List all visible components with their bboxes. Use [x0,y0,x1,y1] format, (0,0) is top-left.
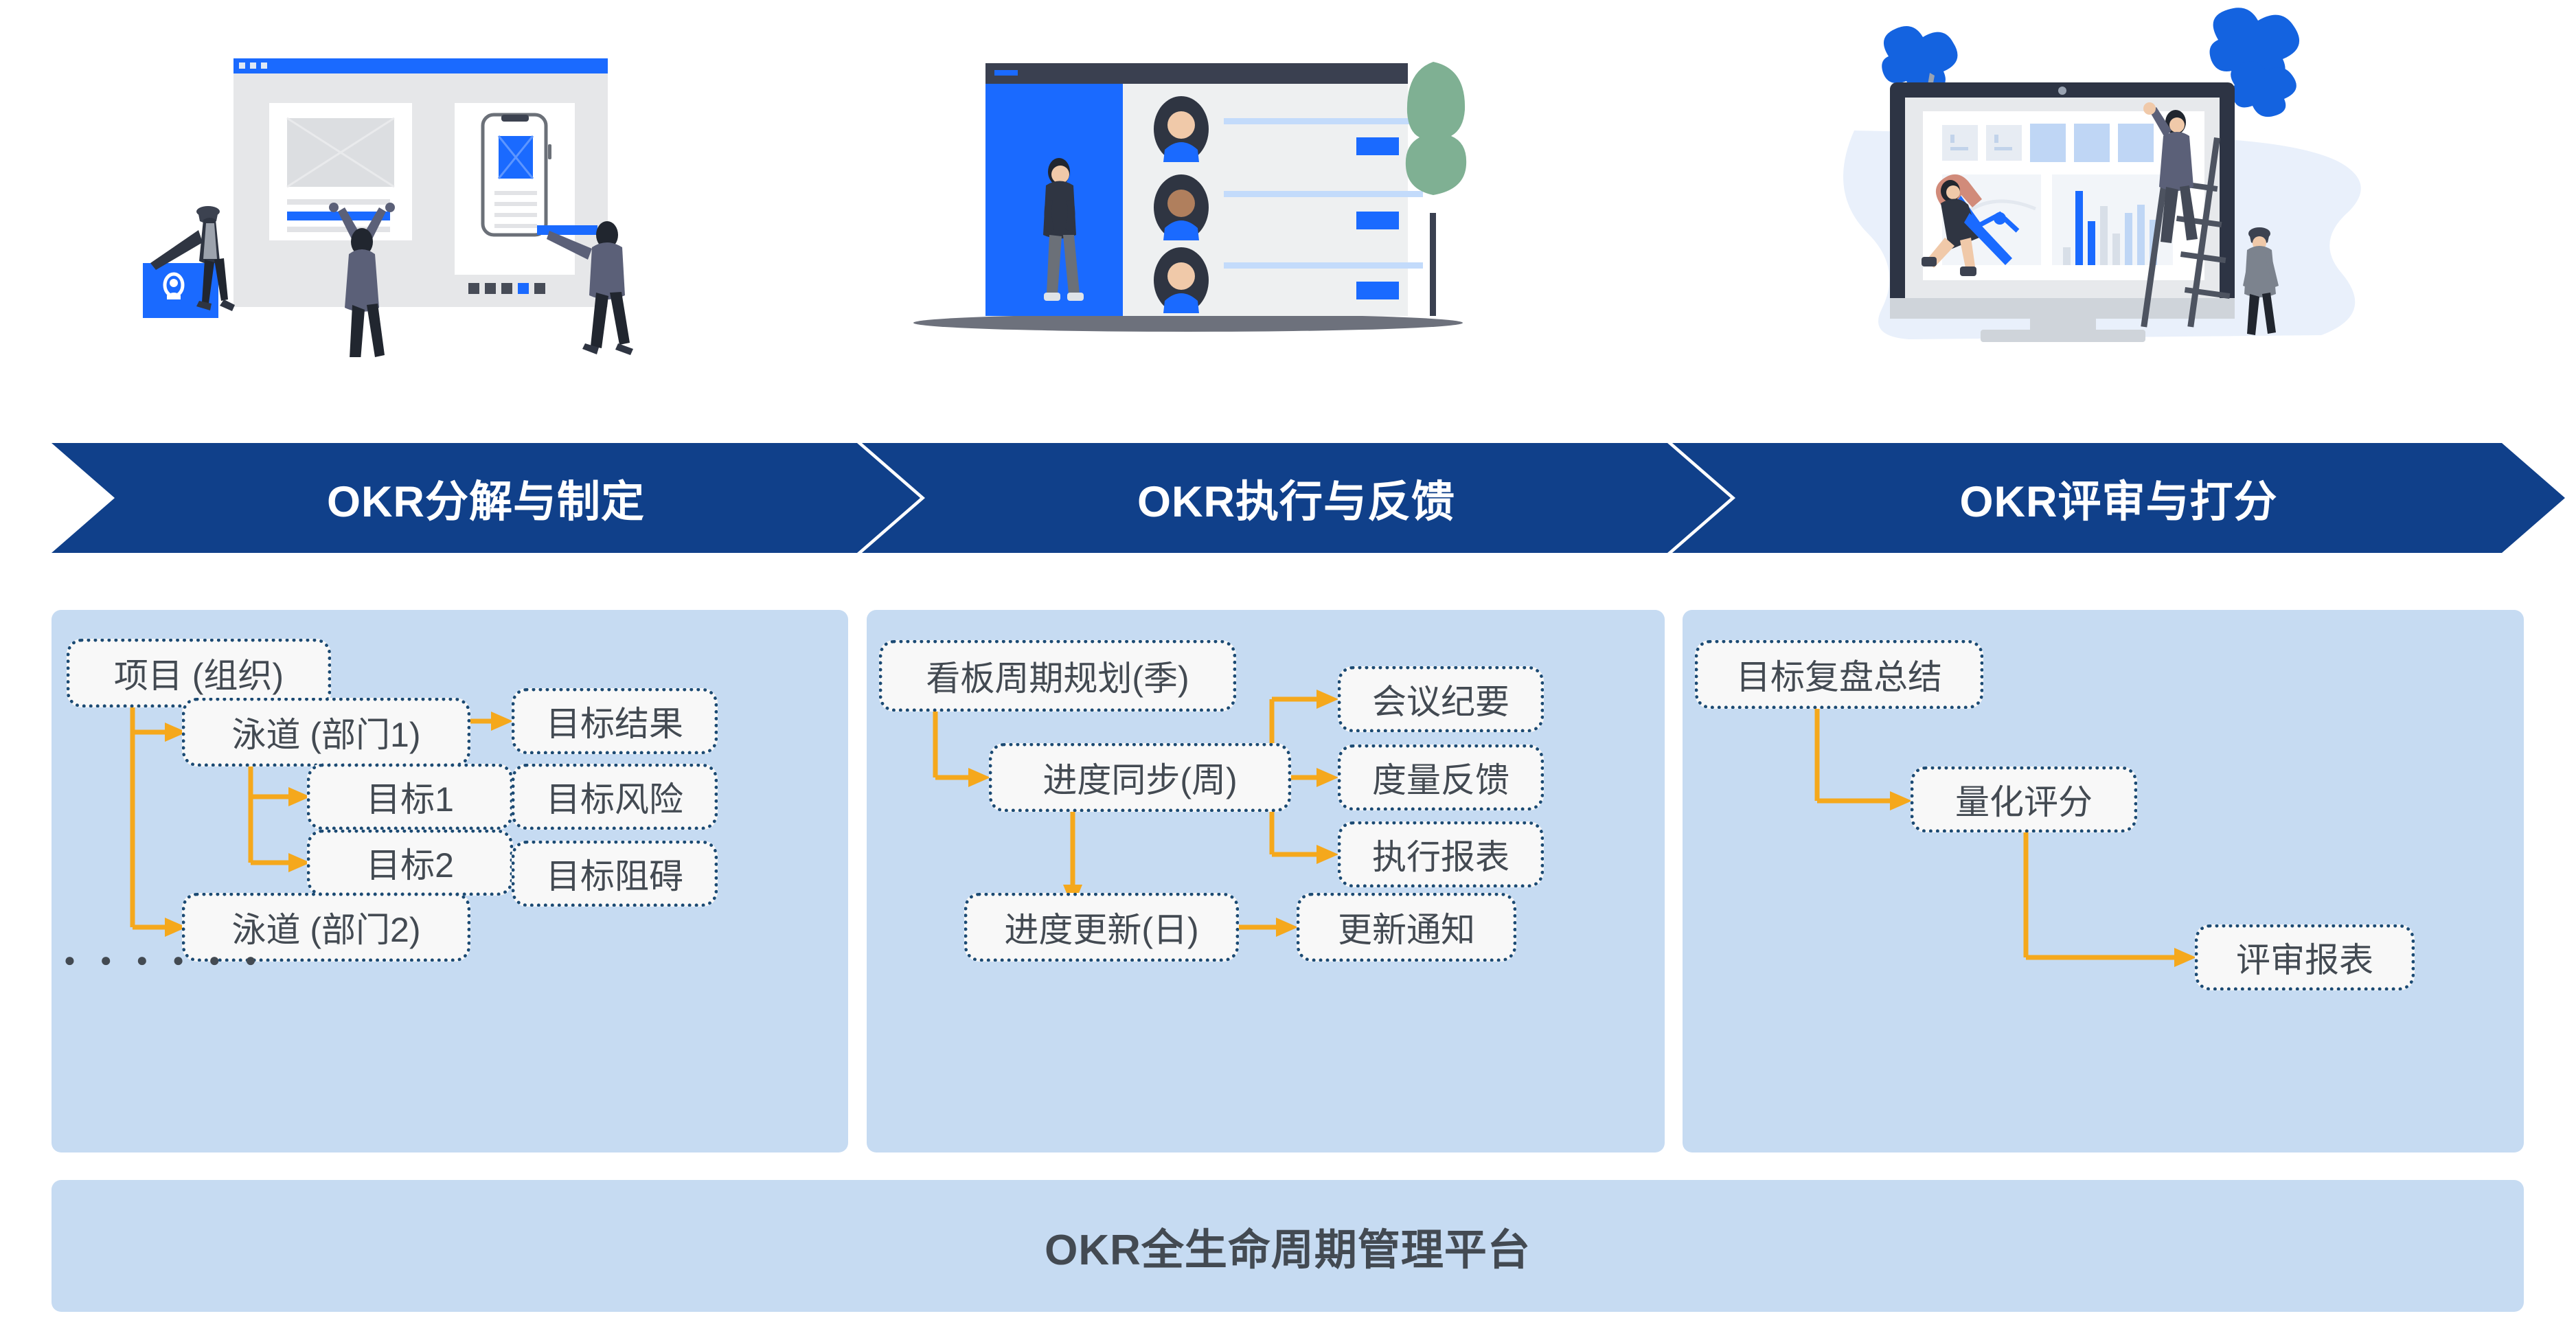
node-quantitative-scoring[interactable]: 量化评分 [1911,766,2137,832]
node-label: 更新通知 [1338,902,1475,952]
stage-3-flow-panel: 目标复盘总结 量化评分 评审报表 [1683,610,2524,1152]
stage-banner-2-label: OKR执行与反馈 [1137,467,1455,530]
node-label: 进度更新(日) [1004,902,1198,952]
okr-review-illustration [1813,7,2410,343]
okr-execution-illustration [913,34,1477,337]
node-update-notification[interactable]: 更新通知 [1297,893,1516,962]
node-label: 泳道 (部门1) [232,707,421,757]
stage-banner-row: OKR分解与制定 OKR执行与反馈 OKR评审与打分 [0,443,2576,553]
node-metric-feedback[interactable]: 度量反馈 [1338,745,1544,810]
stage-2-flow-panel: 看板周期规划(季) 进度同步(周) 会议纪要 度量反馈 执行报表 进度更新(日)… [867,610,1665,1152]
node-progress-sync-weekly[interactable]: 进度同步(周) [989,743,1291,812]
node-review-report[interactable]: 评审报表 [2195,924,2415,990]
more-items-ellipsis: ● ● ● ● ● ● [64,951,266,970]
stage-banner-1-label: OKR分解与制定 [327,467,645,530]
okr-planning-illustration [130,27,639,357]
node-kanban-cycle-plan[interactable]: 看板周期规划(季) [879,640,1236,712]
node-progress-update-daily[interactable]: 进度更新(日) [964,893,1239,962]
okr-lifecycle-infographic: OKR分解与制定 OKR执行与反馈 OKR评审与打分 [0,0,2576,1340]
node-objective-risk[interactable]: 目标风险 [512,764,718,830]
node-label: 评审报表 [2236,933,2373,982]
node-meeting-minutes[interactable]: 会议纪要 [1338,666,1544,732]
node-label: 目标阻碍 [546,849,683,898]
platform-footer-bar: OKR全生命周期管理平台 [52,1180,2524,1312]
node-label: 量化评分 [1955,775,2093,824]
node-objective-result[interactable]: 目标结果 [512,688,718,754]
node-label: 目标结果 [546,696,683,746]
node-label: 目标复盘总结 [1736,650,1942,699]
node-label: 看板周期规划(季) [926,651,1189,701]
node-label: 目标2 [366,838,454,887]
stage-banner-3-label: OKR评审与打分 [1960,467,2278,530]
node-swimlane-dept1[interactable]: 泳道 (部门1) [182,698,470,766]
node-label: 项目 (组织) [114,648,284,698]
node-objective-2[interactable]: 目标2 [307,830,513,896]
node-label: 度量反馈 [1372,753,1509,802]
stage-banner-1[interactable]: OKR分解与制定 [52,443,920,553]
node-goal-retro-summary[interactable]: 目标复盘总结 [1695,640,1983,709]
stage-1-flow-panel: 项目 (组织) 泳道 (部门1) 目标1 目标2 泳道 (部门2) 目标结果 目… [52,610,848,1152]
node-label: 会议纪要 [1372,674,1509,724]
node-objective-blocker[interactable]: 目标阻碍 [512,841,718,907]
node-execution-report[interactable]: 执行报表 [1338,821,1544,887]
illustration-row [0,0,2576,412]
node-label: 进度同步(周) [1042,753,1237,802]
node-label: 执行报表 [1372,830,1509,879]
stage-banner-2[interactable]: OKR执行与反馈 [862,443,1731,553]
node-project-org[interactable]: 项目 (组织) [67,639,331,707]
node-label: 目标1 [366,772,454,821]
node-label: 目标风险 [546,772,683,821]
platform-footer-label: OKR全生命周期管理平台 [1045,1215,1531,1277]
node-label: 泳道 (部门2) [232,902,421,952]
stage-banner-3[interactable]: OKR评审与打分 [1672,443,2565,553]
node-objective-1[interactable]: 目标1 [307,764,513,830]
